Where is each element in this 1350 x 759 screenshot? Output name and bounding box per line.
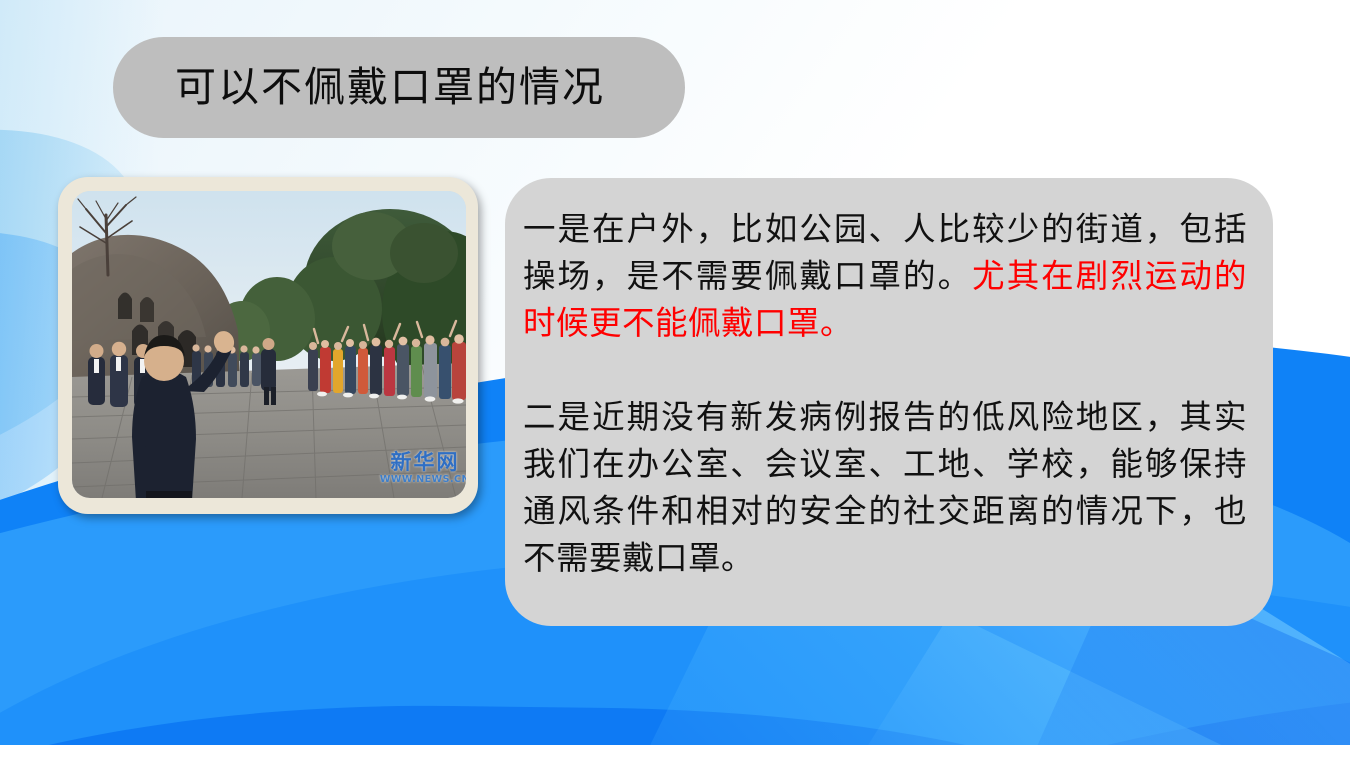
title-pill: 可以不佩戴口罩的情况 <box>113 37 685 138</box>
body-text-panel: 一是在户外，比如公园、人比较少的街道，包括操场，是不需要佩戴口罩的。尤其在剧烈运… <box>505 178 1273 626</box>
paragraph-two: 二是近期没有新发病例报告的低风险地区，其实我们在办公室、会议室、工地、学校，能够… <box>523 394 1247 582</box>
photo-frame: 新华网 WWW.NEWS.CN <box>58 177 478 514</box>
page-title: 可以不佩戴口罩的情况 <box>175 67 605 108</box>
slide-bottom-margin <box>0 745 1350 759</box>
photo-image: 新华网 WWW.NEWS.CN <box>72 191 466 498</box>
slide: 可以不佩戴口罩的情况 <box>0 0 1350 759</box>
paragraph-one: 一是在户外，比如公园、人比较少的街道，包括操场，是不需要佩戴口罩的。尤其在剧烈运… <box>523 206 1247 347</box>
photo-illustration <box>72 191 466 498</box>
